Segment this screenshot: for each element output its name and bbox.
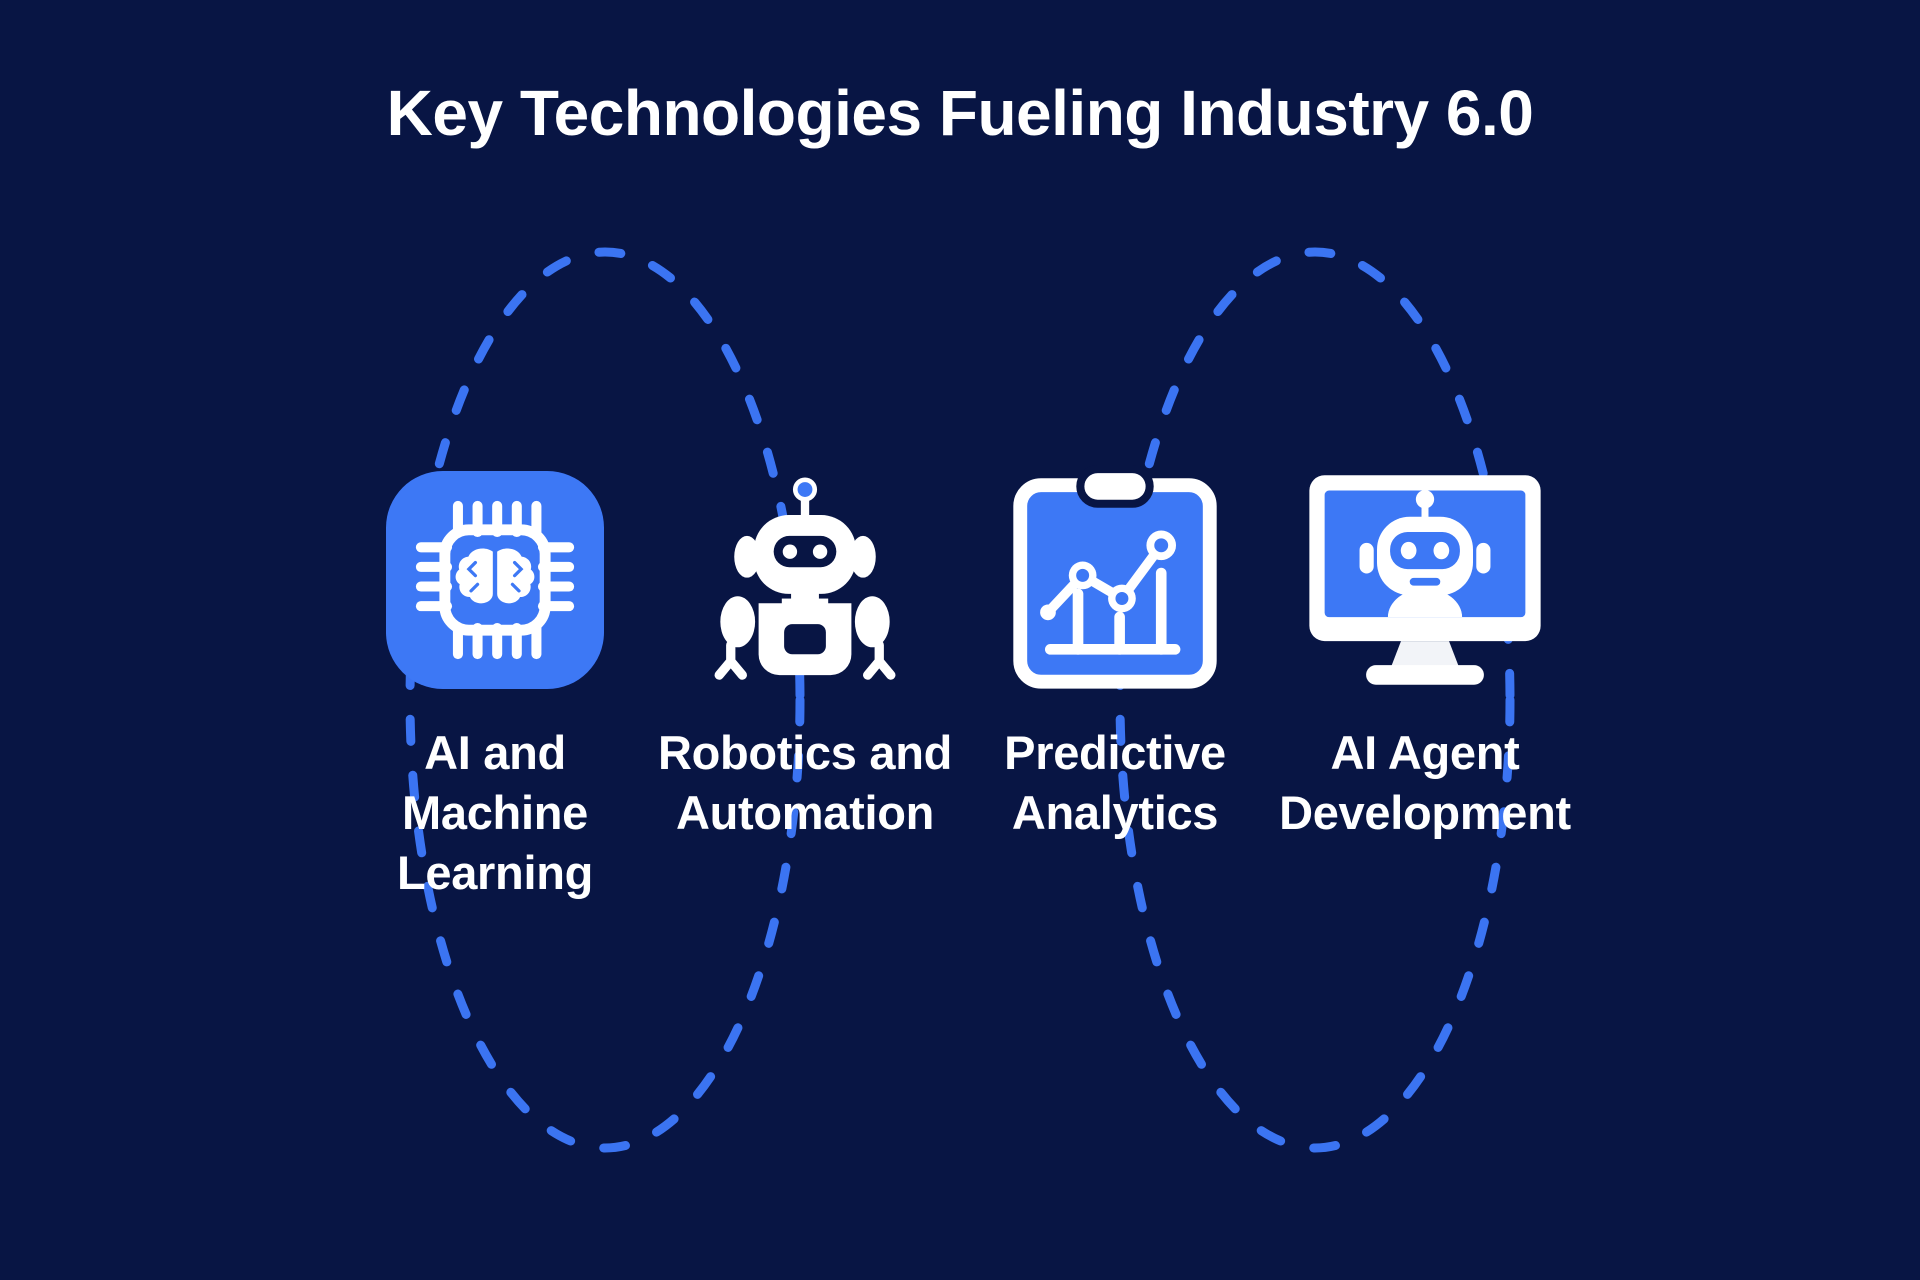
technology-card-list: AI and Machine Learning [0, 455, 1920, 903]
tech-card-label: AI Agent Development [1260, 723, 1590, 843]
tech-card-ai-agent-development[interactable]: AI Agent Development [1270, 455, 1580, 843]
tech-card-robotics-automation[interactable]: Robotics and Automation [650, 455, 960, 843]
icon-slot [1305, 455, 1545, 705]
tech-card-label: Predictive Analytics [965, 723, 1265, 843]
tech-card-ai-machine-learning[interactable]: AI and Machine Learning [340, 455, 650, 903]
tech-card-label: Robotics and Automation [635, 723, 975, 843]
tech-card-predictive-analytics[interactable]: Predictive Analytics [960, 455, 1270, 843]
ai-chip-brain-icon [386, 471, 604, 689]
infographic-canvas: Key Technologies Fueling Industry 6.0 [0, 0, 1920, 1280]
tech-card-label: AI and Machine Learning [365, 723, 625, 903]
icon-slot [1011, 455, 1219, 705]
clipboard-chart-icon [1011, 464, 1219, 696]
robot-icon [689, 464, 921, 696]
icon-slot [386, 455, 604, 705]
icon-slot [689, 455, 921, 705]
monitor-robot-icon [1305, 470, 1545, 690]
page-title: Key Technologies Fueling Industry 6.0 [0, 78, 1920, 148]
